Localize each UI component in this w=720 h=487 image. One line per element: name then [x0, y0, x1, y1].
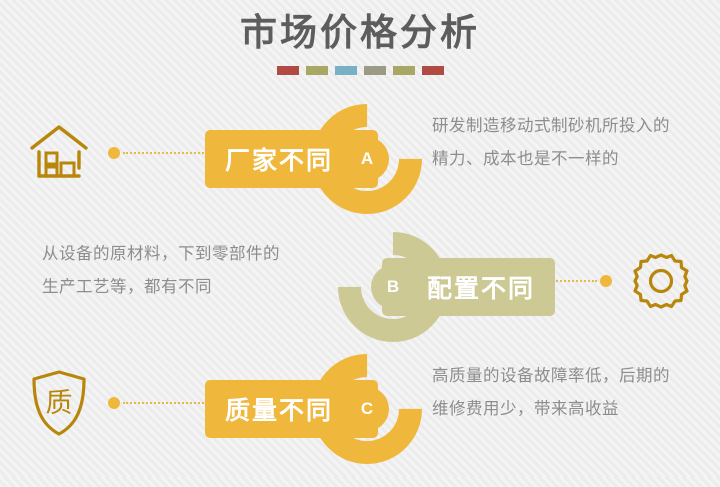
badge-letter-c: C	[361, 399, 373, 419]
connector-dot-c	[108, 397, 120, 409]
title-divider-dashes	[0, 66, 720, 75]
label-group-b[interactable]: 配置不同 B	[300, 228, 560, 348]
connector-dot-b	[600, 275, 612, 287]
row-quality-difference: 质 质量不同 C 高质量的设备故障率低，后期的维修费用少，带来高收益	[0, 350, 720, 470]
description-a: 研发制造移动式制砂机所投入的精力、成本也是不一样的	[432, 110, 672, 176]
svg-text:质: 质	[46, 388, 73, 418]
gear-icon	[622, 242, 700, 320]
dash-blue	[335, 66, 357, 75]
label-bar-text-a: 厂家不同	[225, 141, 333, 177]
dash-gray-olive	[364, 66, 386, 75]
badge-letter-b: B	[387, 277, 399, 297]
dash-red-1	[277, 66, 299, 75]
label-bar-text-c: 质量不同	[225, 391, 333, 427]
badge-c: C	[345, 387, 389, 431]
badge-b: B	[371, 265, 415, 309]
infographic-page: 市场价格分析	[0, 0, 720, 477]
dash-red-2	[422, 66, 444, 75]
house-icon	[20, 114, 98, 192]
dash-olive-2	[393, 66, 415, 75]
connector-dot-a	[108, 147, 120, 159]
title-block: 市场价格分析	[0, 8, 720, 75]
badge-letter-a: A	[361, 149, 373, 169]
row-factory-difference: 厂家不同 A 研发制造移动式制砂机所投入的精力、成本也是不一样的	[0, 100, 720, 220]
label-group-a[interactable]: 厂家不同 A	[200, 100, 460, 220]
label-bar-text-b: 配置不同	[427, 269, 535, 305]
description-b: 从设备的原材料，下到零部件的生产工艺等，都有不同	[42, 238, 282, 304]
description-c: 高质量的设备故障率低，后期的维修费用少，带来高收益	[432, 360, 672, 426]
dash-olive-1	[306, 66, 328, 75]
shield-quality-icon: 质	[20, 364, 98, 442]
label-group-c[interactable]: 质量不同 C	[200, 350, 460, 470]
row-configuration-difference: 配置不同 B 从设备的原材料，下到零部件的生产工艺等，都有不同	[0, 228, 720, 348]
page-title: 市场价格分析	[0, 8, 720, 58]
badge-a: A	[345, 137, 389, 181]
